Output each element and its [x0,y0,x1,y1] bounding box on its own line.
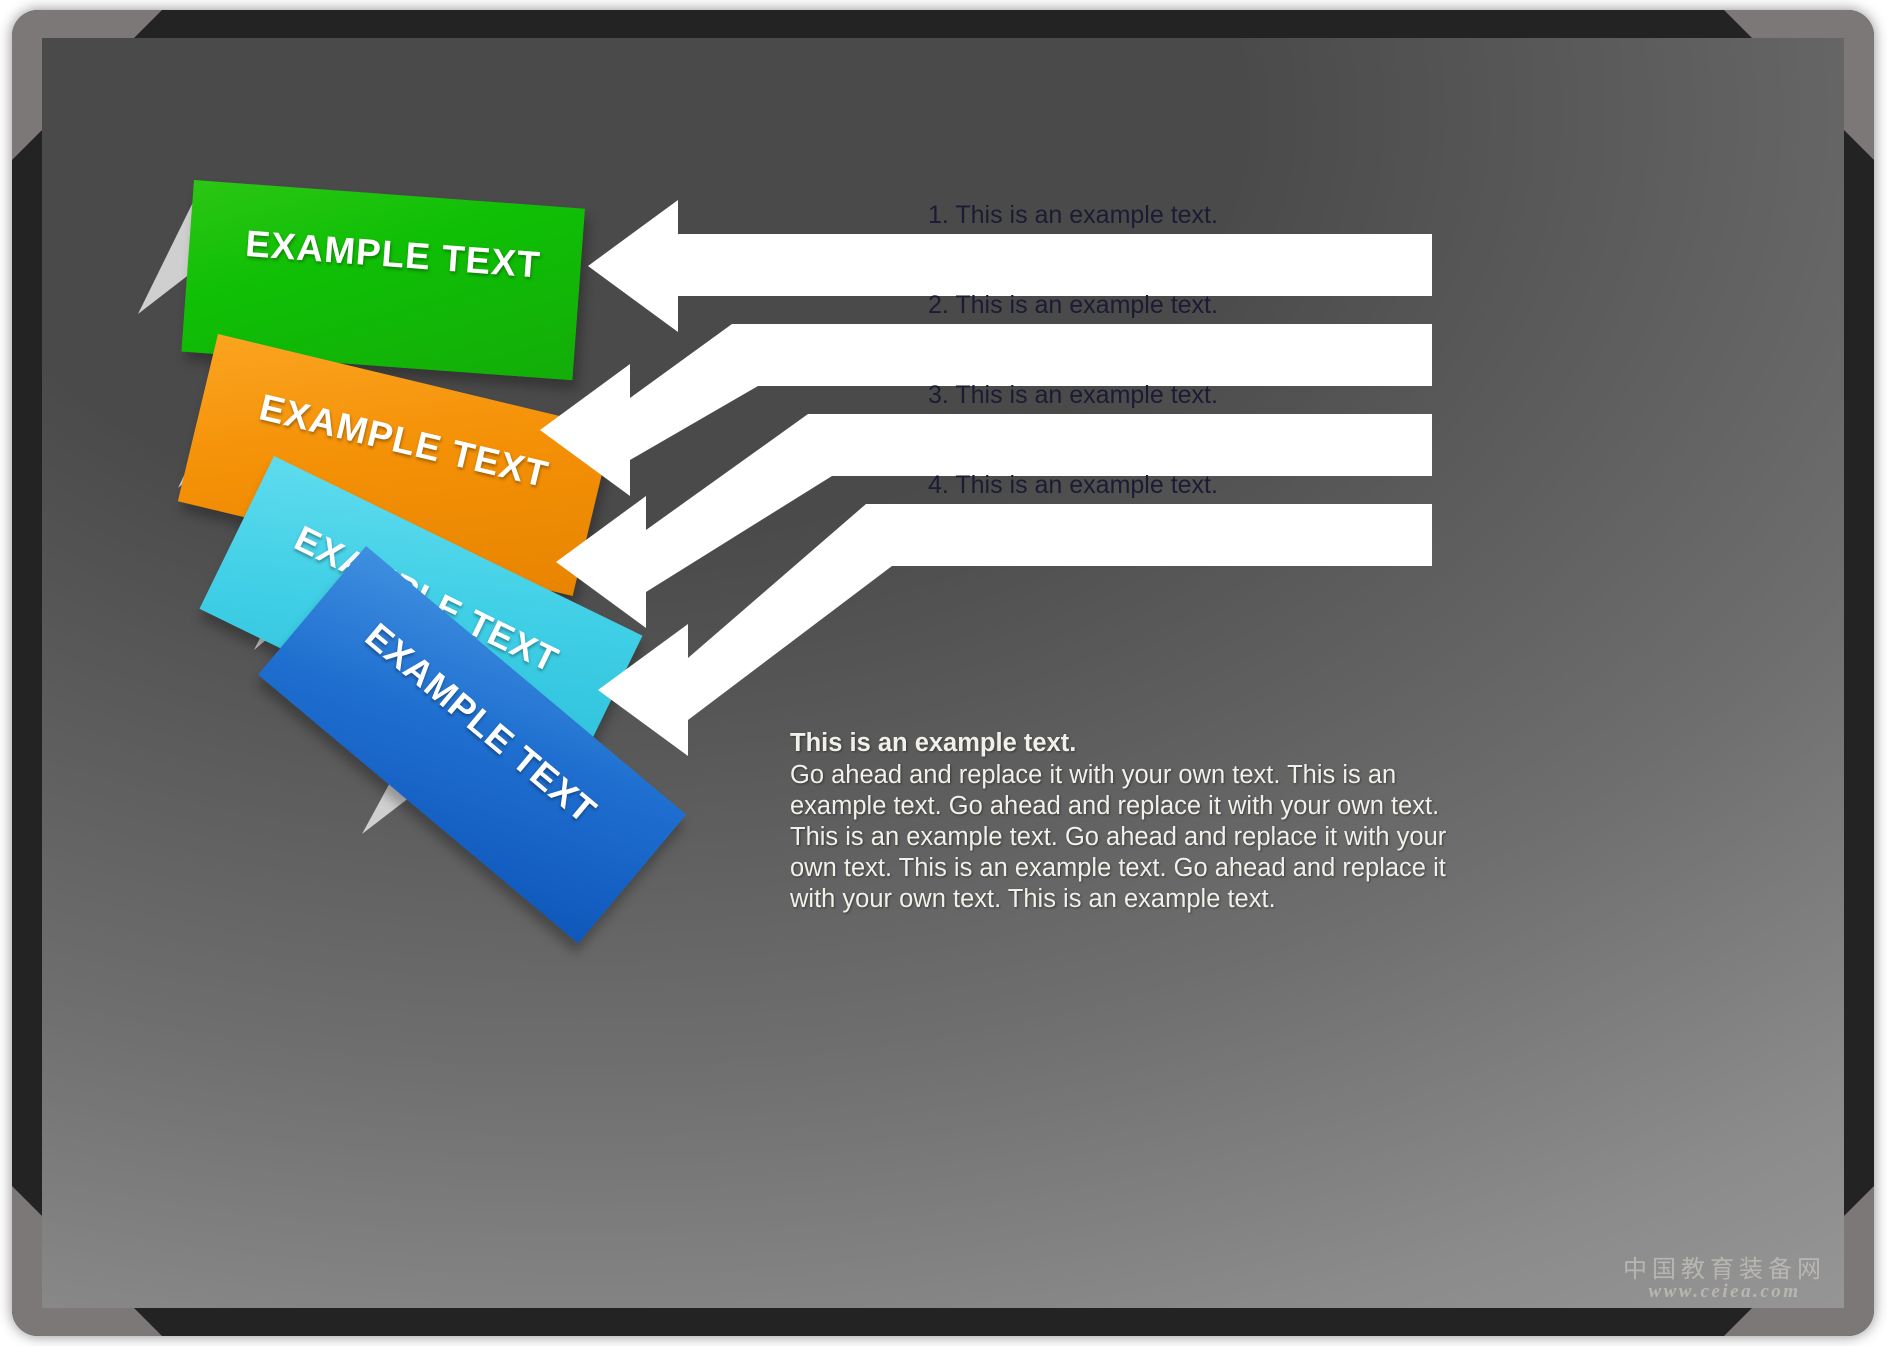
banner-orange-label: EXAMPLE TEXT [199,373,553,496]
body-text-block: This is an example text. Go ahead and re… [790,728,1450,915]
watermark-url: www.ceiea.com [1623,1282,1826,1302]
arrow-label-3: 3. This is an example text. [928,381,1218,410]
arrow-label-1: 1. This is an example text. [928,201,1218,230]
banner-green-label: EXAMPLE TEXT [188,219,542,287]
arrow-label-4: 4. This is an example text. [928,471,1218,500]
watermark: 中国教育装备网 www.ceiea.com [1623,1257,1826,1302]
body-title: This is an example text. [790,728,1450,759]
slide-canvas: EXAMPLE TEXT EXAMPLE TEXT EXAMPLE TEXT E… [42,38,1844,1308]
watermark-chinese: 中国教育装备网 [1623,1257,1826,1282]
slide-root: EXAMPLE TEXT EXAMPLE TEXT EXAMPLE TEXT E… [0,0,1887,1346]
arrow-label-2: 2. This is an example text. [928,291,1218,320]
body-paragraph: Go ahead and replace it with your own te… [790,760,1450,915]
